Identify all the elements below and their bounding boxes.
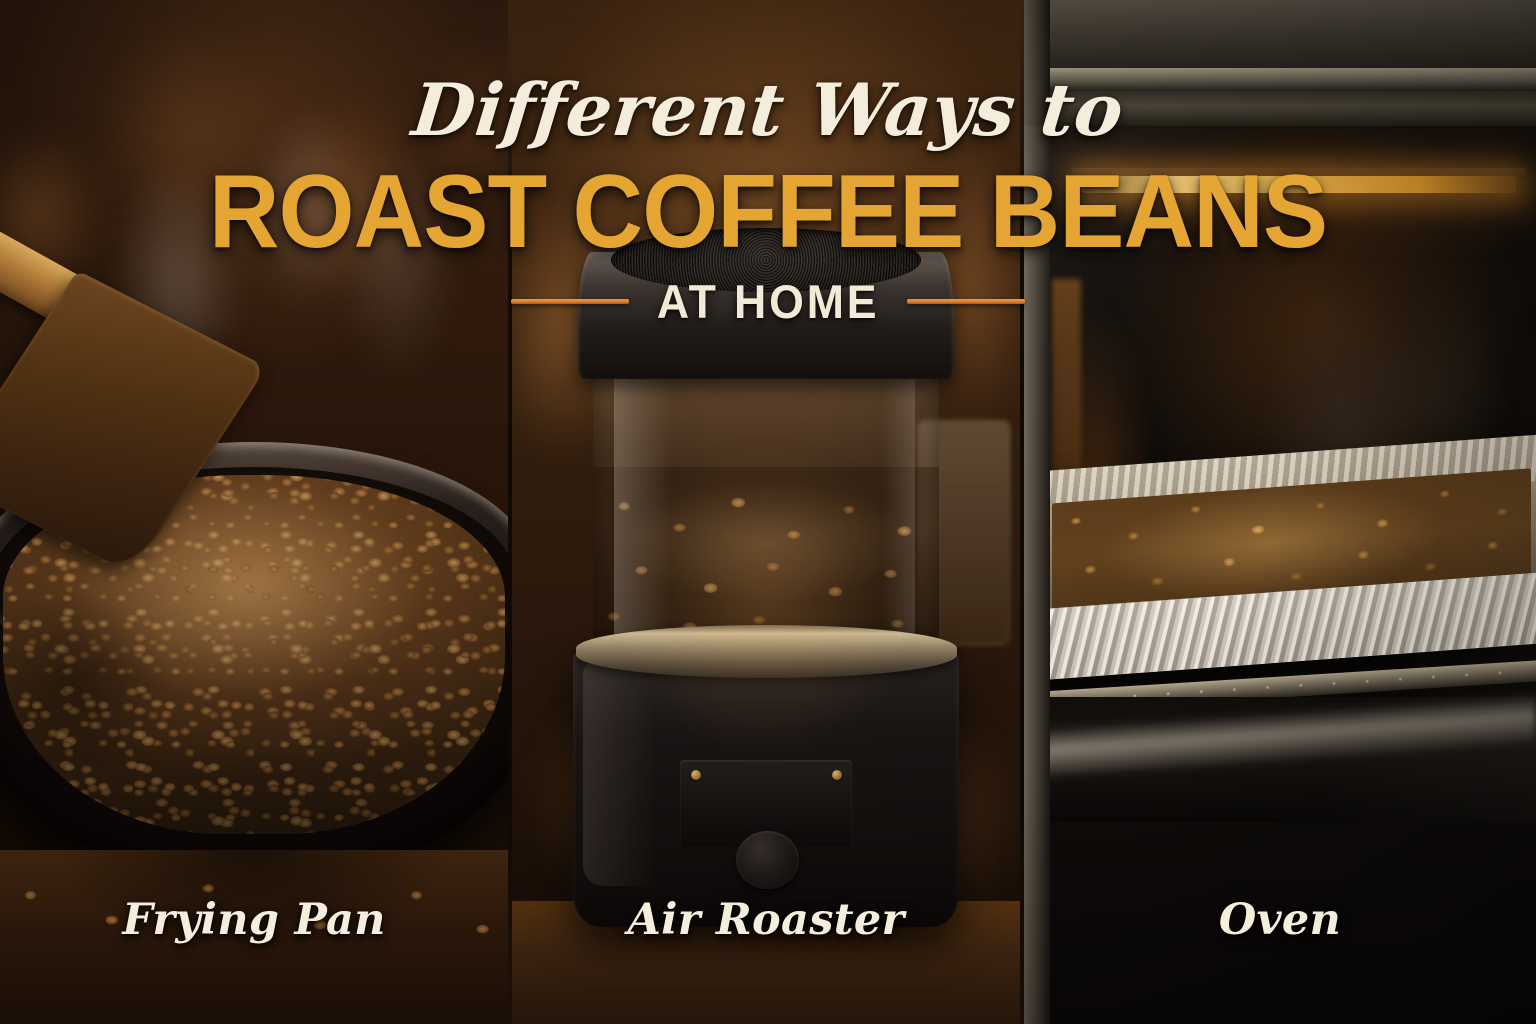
oven-trim-bright (1024, 68, 1536, 92)
oven-trim-dark (1024, 91, 1536, 126)
roaster-base-highlight (583, 660, 664, 885)
panel-divider (508, 0, 512, 1024)
oven-top-frame (1024, 0, 1536, 68)
glass-highlight (880, 358, 915, 645)
roaster-steel-band (576, 625, 957, 678)
oven-cavity (1042, 126, 1536, 822)
panel-frying-pan (0, 0, 508, 1024)
glass-highlight (614, 358, 676, 645)
oven-heating-element (1081, 176, 1516, 193)
panel-group (0, 0, 1536, 1024)
roaster-mesh-vent-icon (611, 228, 921, 291)
roaster-glass-chamber (593, 358, 938, 645)
poster-root: Different Ways to ROAST COFFEE BEANS AT … (0, 0, 1536, 1024)
panel-oven (1024, 0, 1536, 1024)
oven-door-side-panel (1024, 0, 1050, 1024)
panel-air-roaster (512, 0, 1020, 1024)
roaster-control-knob[interactable] (736, 831, 800, 888)
roaster-screw (691, 770, 701, 780)
scattered-beans (0, 850, 508, 963)
baking-tray (1042, 435, 1536, 681)
panel-divider (1020, 0, 1024, 1024)
